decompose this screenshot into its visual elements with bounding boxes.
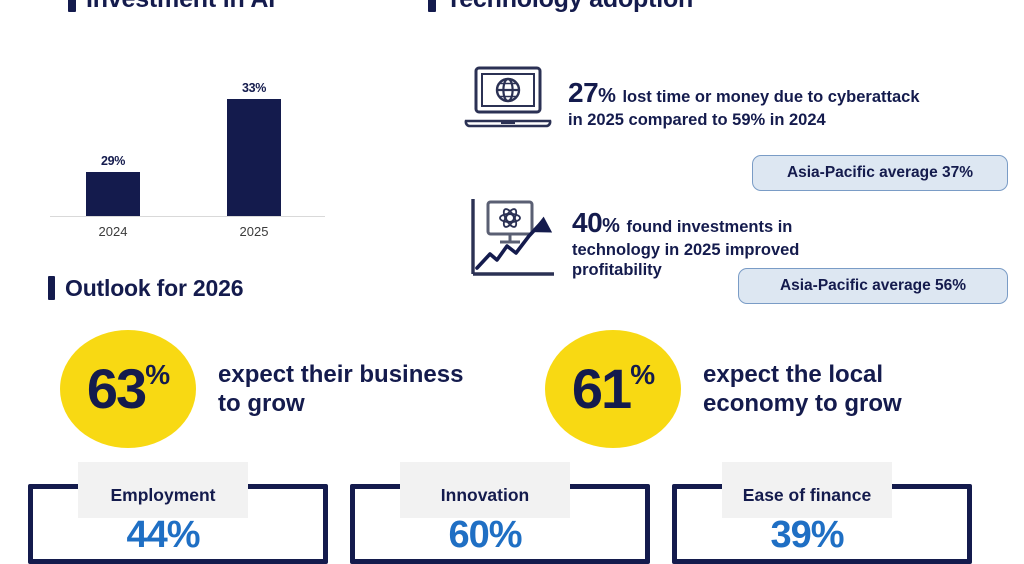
section-heading-outlook: Outlook for 2026 [48,276,243,300]
metric-label-innovation: Innovation [400,485,570,506]
asia-pacific-average-badge-cyberattack: Asia-Pacific average 37% [752,155,1008,191]
bar-group-2025: 33% [227,81,281,217]
section-heading-label: Technology adoption [446,0,693,12]
chart-plot-area: 29% 33% [50,52,325,217]
stat-line-2: technology in 2025 improved [572,241,799,259]
metric-value-ease-of-finance: 39% [722,516,892,554]
metric-label-ease-of-finance: Ease of finance [722,485,892,506]
stat-line-2: in 2025 compared to 59% in 2024 [568,111,826,129]
stat-big-value: 27% [568,77,615,108]
outlook-label: expect their business to grow [218,360,463,419]
heading-accent-bar [428,0,436,12]
bar-rect [227,99,281,217]
stat-line-1: found investments in [626,218,792,236]
x-tick-label-2025: 2025 [227,224,281,239]
stat-line-1: lost time or money due to cyberattack [622,88,919,106]
stat-big-value: 40% [572,207,619,238]
investment-bar-chart: 29% 33% 2024 2025 [50,52,325,252]
metric-value-employment: 44% [78,516,248,554]
x-tick-label-2024: 2024 [86,224,140,239]
outlook-percentage: 61% [572,361,654,417]
stat-text-cyberattack: 27%lost time or money due to cyberattack… [568,64,920,130]
infographic-canvas: Investment in AI Technology adoption 29%… [0,0,1024,538]
outlook-stat-economy-growth: 61% expect the local economy to grow [545,330,902,448]
section-heading-technology: Technology adoption [428,0,693,12]
heading-accent-bar [48,276,55,300]
tech-growth-chart-icon [466,196,558,284]
stat-line-3: profitability [572,261,662,279]
outlook-label: expect the local economy to grow [703,360,902,419]
section-heading-label: Investment in AI [86,0,275,12]
bar-group-2024: 29% [86,154,140,217]
bar-rect [86,172,140,217]
bar-value-label: 29% [86,154,140,168]
section-heading-investment: Investment in AI [68,0,275,12]
bottom-metric-row: Employment Innovation Ease of finance 44… [0,462,1024,538]
yellow-circle-badge: 61% [545,330,681,448]
laptop-globe-icon [462,64,554,136]
metric-label-employment: Employment [78,485,248,506]
section-heading-label: Outlook for 2026 [65,277,243,300]
outlook-stat-business-growth: 63% expect their business to grow [60,330,463,448]
yellow-circle-badge: 63% [60,330,196,448]
heading-accent-bar [68,0,76,12]
stat-block-cyberattack: 27%lost time or money due to cyberattack… [462,64,920,136]
chart-x-axis [50,216,325,217]
metric-value-innovation: 60% [400,516,570,554]
asia-pacific-average-badge-tech-investment: Asia-Pacific average 56% [738,268,1008,304]
bar-value-label: 33% [227,81,281,95]
outlook-percentage: 63% [87,361,169,417]
